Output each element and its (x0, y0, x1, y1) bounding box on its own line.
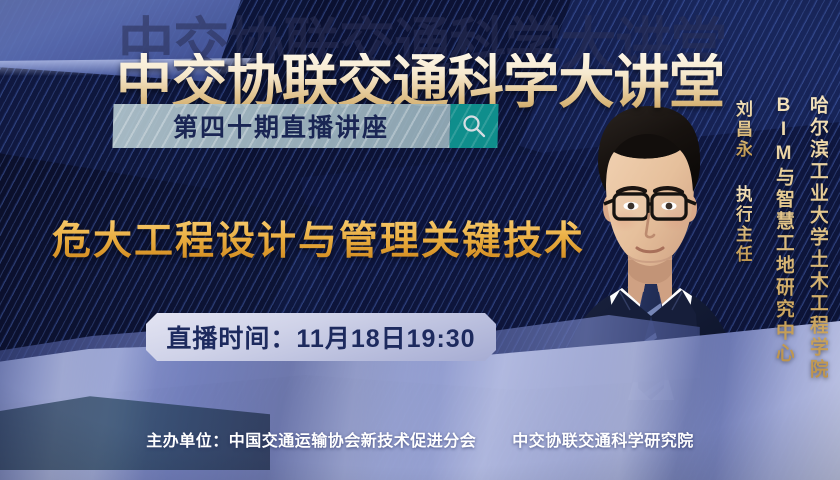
live-time-text: 直播时间：11月18日19:30 (166, 319, 475, 355)
speaker-center: BIM与智慧工地研究中心 (772, 95, 794, 365)
main-title: 中交协联交通科学大讲堂 (13, 53, 828, 111)
live-time-banner: 直播时间：11月18日19:30 (146, 313, 496, 361)
footer-organizers: 主办单位：中国交通运输协会新技术促进分会 中交协联交通科学研究院 (0, 427, 840, 451)
lecture-title: 危大工程设计与管理关键技术 (52, 220, 585, 265)
speaker-name: 刘昌永 (732, 100, 752, 160)
search-icon[interactable] (449, 104, 498, 148)
footer-host-suffix: 中交协联交通科学研究院 (512, 433, 694, 450)
poster-canvas: 中交协联交通科学大讲堂 中交协联交通科学大讲堂 第四十期直播讲座 危大工程设计与… (0, 0, 840, 480)
episode-label: 第四十期直播讲座 (173, 108, 389, 144)
footer-host-prefix: 主办单位：中国交通运输协会新技术促进分会 (146, 433, 476, 450)
speaker-role: 执行主任 (732, 185, 752, 265)
episode-bar-body: 第四十期直播讲座 (112, 104, 450, 148)
speaker-organization: 哈尔滨工业大学土木工程学院 (806, 95, 828, 381)
episode-bar: 第四十期直播讲座 (112, 104, 498, 148)
